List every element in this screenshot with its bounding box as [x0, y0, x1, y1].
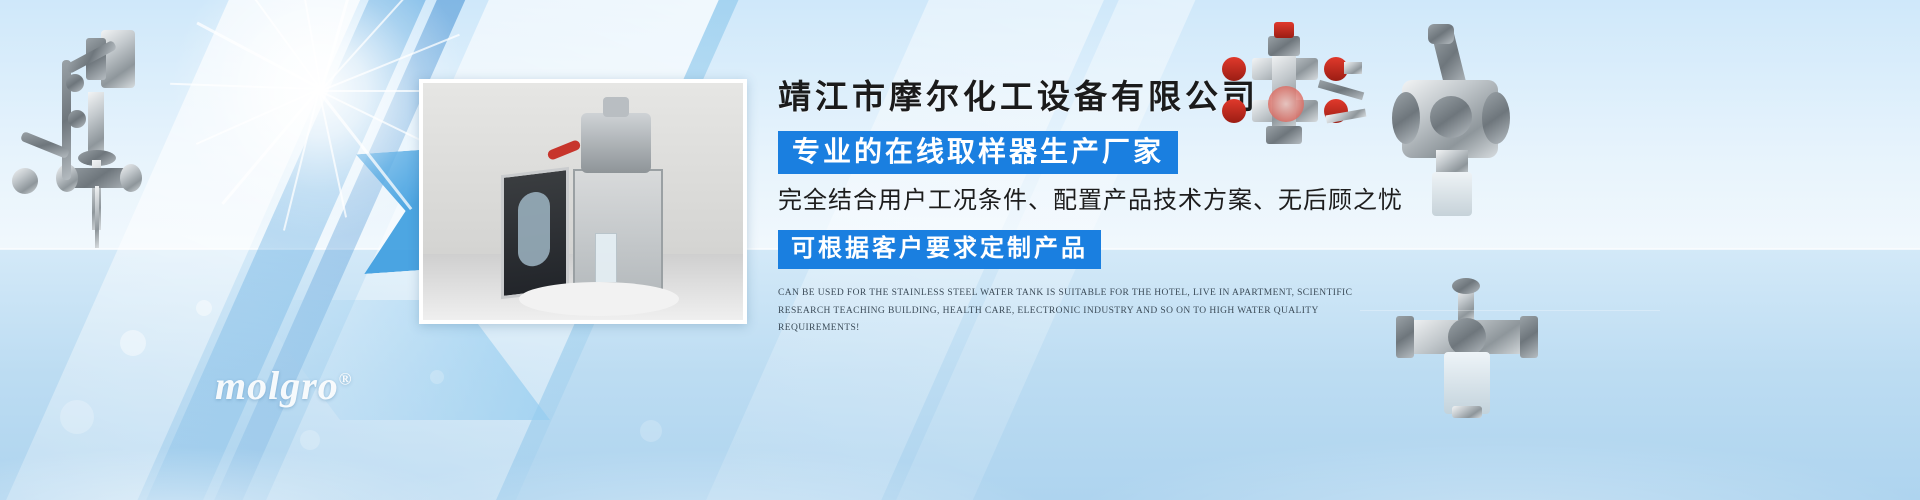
watermark-logo-text: molgro [215, 363, 339, 408]
sub-headline: 完全结合用户工况条件、配置产品技术方案、无后顾之忧 [778, 187, 1398, 216]
water-reflection [0, 320, 1920, 500]
watermark-logo: molgro® [215, 362, 353, 409]
registered-trademark-icon: ® [339, 370, 353, 389]
english-description: Can be used for the stainless steel wate… [778, 285, 1388, 338]
headline-secondary: 可根据客户要求定制产品 [778, 230, 1101, 269]
headline-primary: 专业的在线取样器生产厂家 [778, 131, 1178, 174]
product-banner: 靖江市摩尔化工设备有限公司 专业的在线取样器生产厂家 完全结合用户工况条件、配置… [0, 0, 1920, 500]
product-photo [419, 79, 747, 324]
